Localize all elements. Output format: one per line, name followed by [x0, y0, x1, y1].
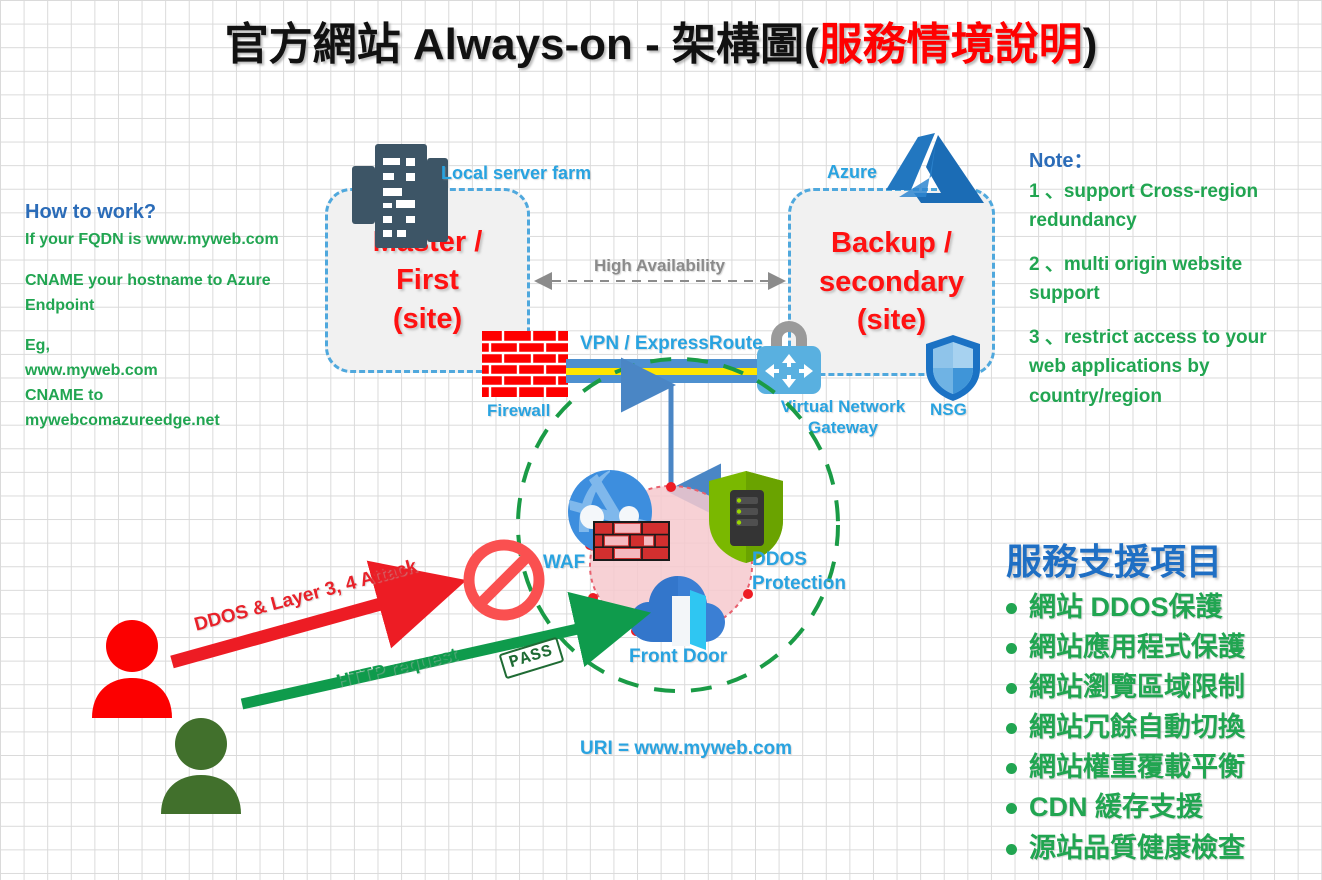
- note-line-4: support: [1029, 279, 1319, 308]
- service-support-item: 網站 DDOS保護: [1006, 590, 1316, 625]
- how-to-work-line-3: Endpoint: [25, 294, 325, 319]
- high-availability-label: High Availability: [594, 256, 725, 276]
- service-support-item-label: 源站品質健康檢查: [1029, 831, 1245, 866]
- waf-label: WAF: [543, 552, 585, 574]
- note-line-8: country/region: [1029, 382, 1319, 411]
- how-to-work-line-1: [25, 253, 325, 269]
- azure-label: Azure: [827, 162, 877, 183]
- note-line-7: web applications by: [1029, 352, 1319, 381]
- service-support-item: 網站冗餘自動切換: [1006, 710, 1316, 745]
- how-to-work-line-4: [25, 318, 325, 334]
- note-line-1: redundancy: [1029, 206, 1319, 235]
- service-support-list: 網站 DDOS保護網站應用程式保護網站瀏覽區域限制網站冗餘自動切換網站權重覆載平…: [1006, 590, 1316, 866]
- server-farm-building-icon: [352, 136, 448, 262]
- uri-label: URI = www.myweb.com: [580, 738, 792, 760]
- service-support-item-label: 網站冗餘自動切換: [1029, 710, 1245, 745]
- note-line-2: [1029, 236, 1319, 250]
- azure-logo-icon: [881, 133, 984, 205]
- how-to-work-block: How to work? If your FQDN is www.myweb.c…: [25, 197, 325, 434]
- how-to-work-heading: How to work?: [25, 197, 325, 228]
- service-support-item: CDN 緩存支援: [1006, 790, 1316, 825]
- page-title-tail: ): [1083, 20, 1098, 69]
- note-line-5: [1029, 309, 1319, 323]
- bullet-dot-icon: [1006, 844, 1017, 855]
- how-to-work-line-8: mywebcomazureedge.net: [25, 409, 325, 434]
- nsg-shield-icon: [923, 333, 983, 403]
- how-to-work-line-5: Eg,: [25, 334, 325, 359]
- service-support-item: 網站權重覆載平衡: [1006, 750, 1316, 785]
- nsg-label: NSG: [930, 400, 967, 420]
- how-to-work-line-7: CNAME to: [25, 384, 325, 409]
- page-title-main: 官方網站 Always-on - 架構圖(: [225, 20, 819, 69]
- ddos-protection-label: DDOS Protection: [752, 548, 846, 596]
- notes-heading: Note：: [1029, 146, 1319, 177]
- notes-block: Note： 1 、support Cross-region redundancy…: [1029, 146, 1319, 411]
- local-server-farm-label: Local server farm: [441, 163, 591, 184]
- note-line-0: 1 、support Cross-region: [1029, 177, 1319, 206]
- legitimate-user-icon: [158, 718, 244, 814]
- bullet-dot-icon: [1006, 603, 1017, 614]
- service-support-heading: 服務支援項目: [1006, 533, 1316, 585]
- how-to-work-line-6: www.myweb.com: [25, 359, 325, 384]
- bullet-dot-icon: [1006, 803, 1017, 814]
- service-support-item: 網站瀏覽區域限制: [1006, 670, 1316, 705]
- service-support-item: 源站品質健康檢查: [1006, 831, 1316, 866]
- bullet-dot-icon: [1006, 643, 1017, 654]
- bullet-dot-icon: [1006, 723, 1017, 734]
- note-line-3: 2 、multi origin website: [1029, 250, 1319, 279]
- page-title-highlight: 服務情境說明: [819, 20, 1083, 69]
- service-support-item-label: CDN 緩存支援: [1029, 790, 1203, 825]
- service-support-item-label: 網站 DDOS保護: [1029, 590, 1223, 625]
- service-support-item-label: 網站應用程式保護: [1029, 630, 1245, 665]
- service-support-item: 網站應用程式保護: [1006, 630, 1316, 665]
- service-support-block: 服務支援項目 網站 DDOS保護網站應用程式保護網站瀏覽區域限制網站冗餘自動切換…: [1006, 533, 1316, 866]
- bullet-dot-icon: [1006, 763, 1017, 774]
- vpn-expressroute-label: VPN / ExpressRoute: [580, 333, 763, 355]
- attacker-user-icon: [88, 620, 176, 718]
- service-support-item-label: 網站瀏覽區域限制: [1029, 670, 1245, 705]
- how-to-work-line-0: If your FQDN is www.myweb.com: [25, 228, 325, 253]
- how-to-work-line-2: CNAME your hostname to Azure: [25, 269, 325, 294]
- bullet-dot-icon: [1006, 683, 1017, 694]
- service-support-item-label: 網站權重覆載平衡: [1029, 750, 1245, 785]
- waf-icon: [567, 470, 671, 560]
- backup-site-label: Backup / secondary (site): [819, 224, 964, 340]
- note-line-6: 3 、restrict access to your: [1029, 323, 1319, 352]
- page-title: 官方網站 Always-on - 架構圖(服務情境說明): [0, 8, 1322, 72]
